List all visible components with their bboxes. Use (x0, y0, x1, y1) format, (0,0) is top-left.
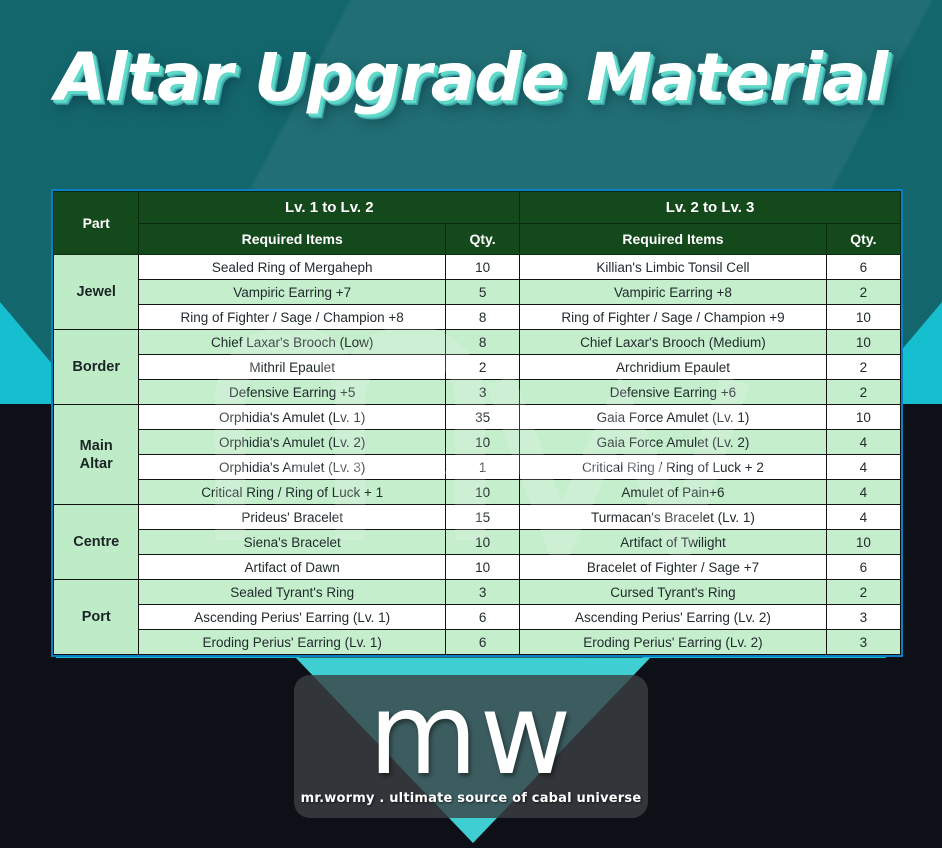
qty-cell: 6 (445, 630, 519, 655)
required-item-cell: Vampiric Earring +7 (139, 280, 446, 305)
required-item-cell: Turmacan's Bracelet (Lv. 1) (520, 505, 827, 530)
required-item-cell: Artifact of Dawn (139, 555, 446, 580)
required-item-cell: Ascending Perius' Earring (Lv. 1) (139, 605, 446, 630)
table-head-row-subcols: Required Items Qty. Required Items Qty. (54, 224, 901, 255)
qty-cell: 10 (445, 555, 519, 580)
required-item-cell: Cursed Tyrant's Ring (520, 580, 827, 605)
table-row: Artifact of Dawn10Bracelet of Fighter / … (54, 555, 901, 580)
part-cell: MainAltar (54, 405, 139, 505)
qty-cell: 1 (445, 455, 519, 480)
logo-mw-mark: mw (294, 679, 648, 791)
part-cell: Port (54, 580, 139, 655)
logo-tagline: mr.wormy . ultimate source of cabal univ… (294, 791, 648, 806)
col-header-qty-2: Qty. (826, 224, 900, 255)
qty-cell: 6 (826, 555, 900, 580)
qty-cell: 3 (445, 580, 519, 605)
col-header-required-items-1: Required Items (139, 224, 446, 255)
required-item-cell: Critical Ring / Ring of Luck + 2 (520, 455, 827, 480)
part-cell: Centre (54, 505, 139, 580)
required-item-cell: Ring of Fighter / Sage / Champion +8 (139, 305, 446, 330)
table-row: Orphidia's Amulet (Lv. 3)1Critical Ring … (54, 455, 901, 480)
qty-cell: 10 (445, 255, 519, 280)
qty-cell: 8 (445, 330, 519, 355)
required-item-cell: Orphidia's Amulet (Lv. 1) (139, 405, 446, 430)
qty-cell: 6 (826, 255, 900, 280)
required-item-cell: Mithril Epaulet (139, 355, 446, 380)
qty-cell: 3 (445, 380, 519, 405)
qty-cell: 35 (445, 405, 519, 430)
qty-cell: 10 (826, 530, 900, 555)
qty-cell: 8 (445, 305, 519, 330)
table-row: JewelSealed Ring of Mergaheph10Killian's… (54, 255, 901, 280)
table-row: Vampiric Earring +75Vampiric Earring +82 (54, 280, 901, 305)
qty-cell: 10 (445, 480, 519, 505)
required-item-cell: Ascending Perius' Earring (Lv. 2) (520, 605, 827, 630)
required-item-cell: Chief Laxar's Brooch (Medium) (520, 330, 827, 355)
qty-cell: 6 (445, 605, 519, 630)
table-row: MainAltarOrphidia's Amulet (Lv. 1)35Gaia… (54, 405, 901, 430)
table-row: BorderChief Laxar's Brooch (Low)8Chief L… (54, 330, 901, 355)
required-item-cell: Orphidia's Amulet (Lv. 2) (139, 430, 446, 455)
col-header-qty-1: Qty. (445, 224, 519, 255)
qty-cell: 4 (826, 430, 900, 455)
table-head: Part Lv. 1 to Lv. 2 Lv. 2 to Lv. 3 Requi… (54, 192, 901, 255)
required-item-cell: Orphidia's Amulet (Lv. 3) (139, 455, 446, 480)
col-group-lv2-lv3: Lv. 2 to Lv. 3 (520, 192, 901, 224)
altar-material-table: Part Lv. 1 to Lv. 2 Lv. 2 to Lv. 3 Requi… (53, 191, 901, 655)
required-item-cell: Sealed Ring of Mergaheph (139, 255, 446, 280)
part-cell: Border (54, 330, 139, 405)
poster-root: Altar Upgrade Material mr.wormy . ultima… (0, 0, 942, 848)
table-row: Ascending Perius' Earring (Lv. 1)6Ascend… (54, 605, 901, 630)
qty-cell: 10 (445, 530, 519, 555)
logo-card: mw mr.wormy . ultimate source of cabal u… (294, 675, 648, 818)
qty-cell: 2 (826, 280, 900, 305)
required-item-cell: Defensive Earring +6 (520, 380, 827, 405)
qty-cell: 10 (826, 305, 900, 330)
qty-cell: 5 (445, 280, 519, 305)
page-title: Altar Upgrade Material (0, 38, 942, 118)
qty-cell: 2 (826, 580, 900, 605)
qty-cell: 2 (826, 355, 900, 380)
qty-cell: 15 (445, 505, 519, 530)
qty-cell: 2 (445, 355, 519, 380)
qty-cell: 10 (826, 405, 900, 430)
required-item-cell: Amulet of Pain+6 (520, 480, 827, 505)
required-item-cell: Siena's Bracelet (139, 530, 446, 555)
table-row: Mithril Epaulet2Archridium Epaulet2 (54, 355, 901, 380)
required-item-cell: Gaia Force Amulet (Lv. 1) (520, 405, 827, 430)
required-item-cell: Artifact of Twilight (520, 530, 827, 555)
required-item-cell: Killian's Limbic Tonsil Cell (520, 255, 827, 280)
table-row: Orphidia's Amulet (Lv. 2)10Gaia Force Am… (54, 430, 901, 455)
qty-cell: 4 (826, 455, 900, 480)
required-item-cell: Chief Laxar's Brooch (Low) (139, 330, 446, 355)
required-item-cell: Bracelet of Fighter / Sage +7 (520, 555, 827, 580)
qty-cell: 4 (826, 505, 900, 530)
col-header-part: Part (54, 192, 139, 255)
table-row: Siena's Bracelet10Artifact of Twilight10 (54, 530, 901, 555)
dark-corner-left (0, 404, 56, 658)
table-row: PortSealed Tyrant's Ring3Cursed Tyrant's… (54, 580, 901, 605)
table-row: Eroding Perius' Earring (Lv. 1)6Eroding … (54, 630, 901, 655)
table-row: Critical Ring / Ring of Luck + 110Amulet… (54, 480, 901, 505)
required-item-cell: Prideus' Bracelet (139, 505, 446, 530)
col-group-lv1-lv2: Lv. 1 to Lv. 2 (139, 192, 520, 224)
qty-cell: 3 (826, 630, 900, 655)
required-item-cell: Ring of Fighter / Sage / Champion +9 (520, 305, 827, 330)
table-row: Ring of Fighter / Sage / Champion +88Rin… (54, 305, 901, 330)
part-cell: Jewel (54, 255, 139, 330)
qty-cell: 2 (826, 380, 900, 405)
qty-cell: 3 (826, 605, 900, 630)
required-item-cell: Vampiric Earring +8 (520, 280, 827, 305)
altar-material-table-container: Part Lv. 1 to Lv. 2 Lv. 2 to Lv. 3 Requi… (51, 189, 903, 657)
qty-cell: 10 (445, 430, 519, 455)
qty-cell: 10 (826, 330, 900, 355)
required-item-cell: Archridium Epaulet (520, 355, 827, 380)
required-item-cell: Critical Ring / Ring of Luck + 1 (139, 480, 446, 505)
qty-cell: 4 (826, 480, 900, 505)
table-head-row-groups: Part Lv. 1 to Lv. 2 Lv. 2 to Lv. 3 (54, 192, 901, 224)
required-item-cell: Gaia Force Amulet (Lv. 2) (520, 430, 827, 455)
required-item-cell: Eroding Perius' Earring (Lv. 1) (139, 630, 446, 655)
table-row: CentrePrideus' Bracelet15Turmacan's Brac… (54, 505, 901, 530)
col-header-required-items-2: Required Items (520, 224, 827, 255)
table-body: JewelSealed Ring of Mergaheph10Killian's… (54, 255, 901, 655)
required-item-cell: Eroding Perius' Earring (Lv. 2) (520, 630, 827, 655)
required-item-cell: Defensive Earring +5 (139, 380, 446, 405)
table-row: Defensive Earring +53Defensive Earring +… (54, 380, 901, 405)
required-item-cell: Sealed Tyrant's Ring (139, 580, 446, 605)
